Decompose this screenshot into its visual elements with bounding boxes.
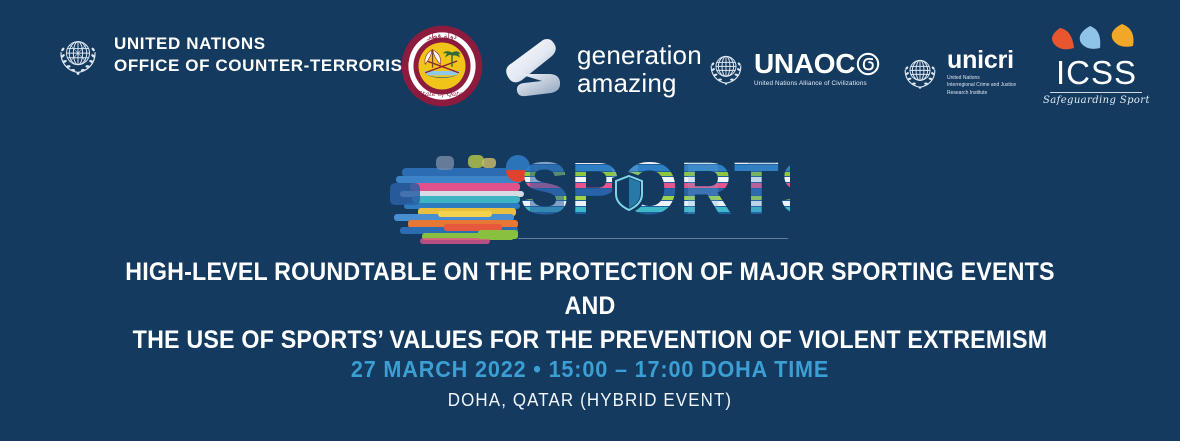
logo-unaoc-word: UNAOC xyxy=(754,50,880,78)
sports-wordmark-block: SPORTS xyxy=(0,146,1180,254)
logo-state-of-qatar: دولة قطر State of Qatar xyxy=(400,24,484,108)
logo-unicri-word: unicri xyxy=(947,48,1016,73)
logo-unaoc: UNAOC United Nations Alliance of Civiliz… xyxy=(706,48,880,88)
logo-icss-tagline: Safeguarding Sport xyxy=(1043,95,1150,106)
headline-line-1: HIGH-LEVEL ROUNDTABLE ON THE PROTECTION … xyxy=(116,255,1065,323)
icss-divider xyxy=(1050,92,1142,93)
logo-unicri-subtitle-line2: Interregional Crime and Justice xyxy=(947,82,1016,89)
generation-amazing-swoosh-icon xyxy=(505,34,567,104)
sports-underline xyxy=(518,238,788,239)
state-of-qatar-emblem-icon: دولة قطر State of Qatar xyxy=(400,24,484,108)
svg-text:دولة قطر: دولة قطر xyxy=(426,31,457,40)
logo-unoct-line1: UNITED NATIONS xyxy=(114,33,417,55)
qatar-caption: State of Qatar xyxy=(418,90,467,98)
unaoc-swirl-icon xyxy=(856,52,880,76)
logo-unicri: unicri United Nations Interregional Crim… xyxy=(900,48,1016,97)
event-details: 27 MARCH 2022 • 15:00 – 17:00 DOHA TIME … xyxy=(140,355,1040,411)
event-headline: HIGH-LEVEL ROUNDTABLE ON THE PROTECTION … xyxy=(80,255,1100,357)
logo-generation-amazing: generation amazing xyxy=(505,34,702,104)
sports-wordmark: SPORTS xyxy=(520,152,790,230)
logo-unaoc-word-text: UNAOC xyxy=(754,50,855,78)
logo-icss: ICSS Safeguarding Sport xyxy=(1043,24,1150,106)
logo-icss-word: ICSS xyxy=(1043,56,1150,89)
un-emblem-icon xyxy=(55,32,101,78)
headline-line-2: THE USE OF SPORTS’ VALUES FOR THE PREVEN… xyxy=(116,323,1065,357)
event-date-time: 27 MARCH 2022 • 15:00 – 17:00 DOHA TIME xyxy=(167,355,1013,384)
un-emblem-icon xyxy=(900,52,940,92)
event-location: DOHA, QATAR (HYBRID EVENT) xyxy=(167,390,1013,411)
logo-ga-line1: generation xyxy=(577,41,702,69)
logo-ga-line2: amazing xyxy=(577,69,702,97)
logo-unicri-subtitle-line3: Research Institute xyxy=(947,90,1016,97)
logo-unicri-subtitle: United Nations Interregional Crime and J… xyxy=(947,75,1016,97)
logo-unicri-subtitle-line1: United Nations xyxy=(947,75,1016,82)
logo-unoct-line2: OFFICE OF COUNTER-TERRORISM xyxy=(114,55,417,77)
partner-logo-bar: UNITED NATIONS OFFICE OF COUNTER-TERRORI… xyxy=(0,18,1180,106)
logo-generation-amazing-text: generation amazing xyxy=(577,41,702,97)
logo-unaoc-subtitle: United Nations Alliance of Civilizations xyxy=(754,80,880,87)
un-emblem-icon xyxy=(706,48,746,88)
icss-shapes-icon xyxy=(1046,24,1146,54)
logo-unoct-text: UNITED NATIONS OFFICE OF COUNTER-TERRORI… xyxy=(114,33,417,78)
logo-unoct: UNITED NATIONS OFFICE OF COUNTER-TERRORI… xyxy=(55,32,417,78)
event-banner: UNITED NATIONS OFFICE OF COUNTER-TERRORI… xyxy=(0,0,1180,441)
